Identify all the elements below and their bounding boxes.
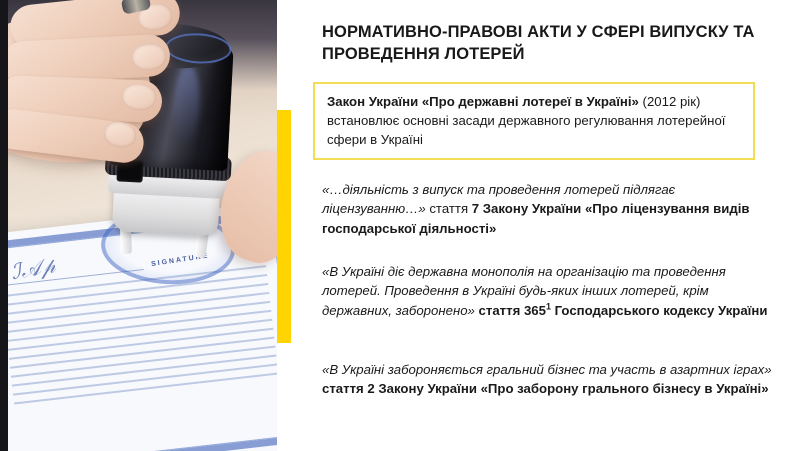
law-callout-box: Закон України «Про державні лотереї в Ук… <box>313 82 755 160</box>
citation-article-number-1: 7 <box>472 201 479 216</box>
citation-source-3: Закону України «Про заборону грального б… <box>375 381 769 396</box>
document-text-lines <box>2 265 277 451</box>
citation-paragraph-1: «…діяльність з випуск та проведення лоте… <box>322 180 774 238</box>
yellow-accent-bar <box>277 110 291 343</box>
stamp-photo: ℐ𝒜𝓅 SIGNATURE <box>0 0 277 451</box>
callout-law-name: Закон України «Про державні лотереї в Ук… <box>327 94 639 109</box>
page-title: НОРМАТИВНО-ПРАВОВІ АКТИ У СФЕРІ ВИПУСКУ … <box>322 22 770 66</box>
citation-quote-3: «В Україні забороняється гральний бізнес… <box>322 362 772 377</box>
citation-paragraph-2: «В Україні діє державна монополія на орг… <box>322 262 774 320</box>
citation-article-label-3: стаття 2 <box>322 381 375 396</box>
stamp-slot <box>116 159 143 182</box>
citation-article-label-2: стаття 365 <box>479 303 546 318</box>
photo-left-edge-strip <box>0 0 8 451</box>
citation-paragraph-3: «В Україні забороняється гральний бізнес… <box>322 360 774 399</box>
callout-year: (2012 рік) <box>639 94 700 109</box>
slide-root: ℐ𝒜𝓅 SIGNATURE <box>0 0 803 451</box>
content-pane: НОРМАТИВНО-ПРАВОВІ АКТИ У СФЕРІ ВИПУСКУ … <box>291 0 803 451</box>
callout-description: встановлює основні засади державного рег… <box>327 113 725 147</box>
citation-connector-1: стаття <box>426 201 472 216</box>
citation-source-2: Господарського кодексу України <box>551 303 768 318</box>
